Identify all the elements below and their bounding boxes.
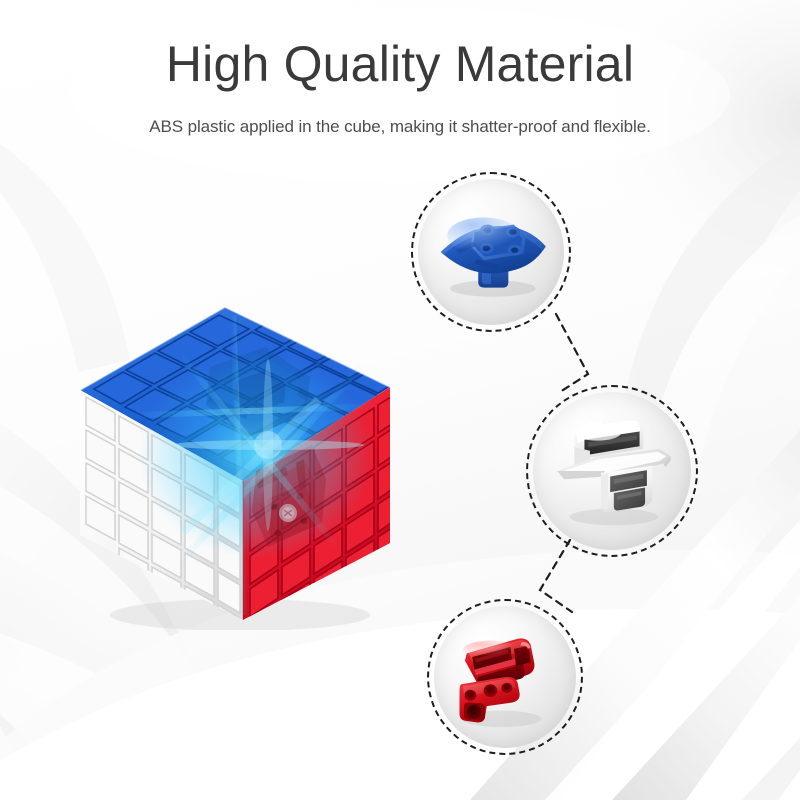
page-title: High Quality Material [0, 0, 800, 91]
header: High Quality Material ABS plastic applie… [0, 0, 800, 137]
marketing-banner: High Quality Material ABS plastic applie… [0, 0, 800, 800]
callout-core-ring [411, 172, 571, 332]
speed-cube-graphic [60, 285, 410, 630]
callout-core-piece[interactable] [411, 172, 571, 332]
callout-corner-ring [427, 599, 583, 755]
page-subtitle: ABS plastic applied in the cube, making … [0, 91, 800, 137]
product-cube [60, 285, 410, 630]
callout-corner-piece[interactable] [427, 599, 583, 755]
callout-edge-ring [526, 385, 698, 557]
callout-edge-piece[interactable] [526, 385, 698, 557]
